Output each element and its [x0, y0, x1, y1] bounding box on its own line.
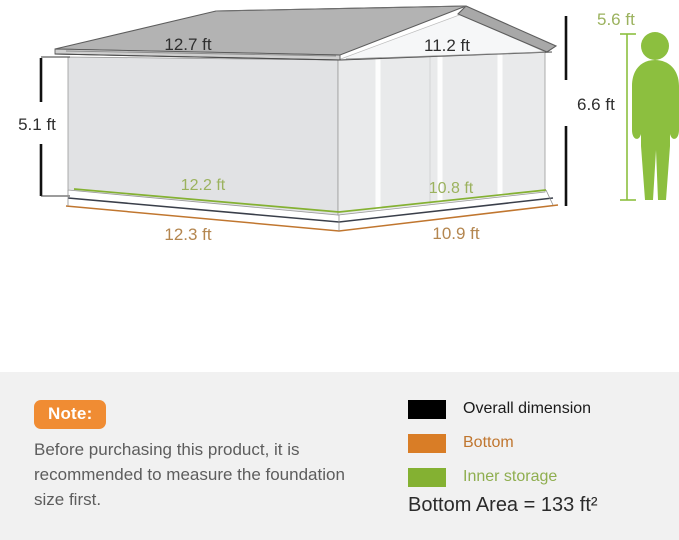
legend-item-overall-dimension: Overall dimension [408, 392, 658, 426]
legend-label-bottom: Bottom [463, 435, 514, 451]
dim-label-inner-left: 12.2 ft [181, 177, 226, 194]
shed-diagram: 12.7 ft 11.2 ft 5.1 ft 6.6 ft 12.2 ft 10… [0, 0, 679, 370]
legend-label-inner-storage: Inner storage [463, 469, 557, 485]
dim-label-roof-right: 11.2 ft [424, 36, 470, 55]
dim-label-right-height: 6.6 ft [577, 95, 615, 114]
legend-item-bottom: Bottom [408, 426, 658, 460]
dim-label-left-height: 5.1 ft [18, 115, 56, 134]
legend: Overall dimension Bottom Inner storage [408, 392, 658, 494]
diagram-panel: 12.7 ft 11.2 ft 5.1 ft 6.6 ft 12.2 ft 10… [0, 0, 679, 370]
info-panel: Note: Before purchasing this product, it… [0, 370, 679, 540]
legend-item-inner-storage: Inner storage [408, 460, 658, 494]
note-badge: Note: [34, 400, 106, 429]
legend-label-overall-dimension: Overall dimension [463, 401, 591, 417]
note-text: Before purchasing this product, it is re… [34, 438, 374, 513]
legend-swatch-inner-storage [408, 468, 446, 487]
dim-label-inner-right: 10.8 ft [429, 180, 474, 197]
dim-label-bottom-left: 12.3 ft [164, 225, 212, 244]
person-scale-figure [632, 32, 679, 200]
bottom-area-summary: Bottom Area = 133 ft² [408, 494, 598, 517]
dim-label-person-height: 5.6 ft [597, 10, 635, 29]
legend-swatch-bottom [408, 434, 446, 453]
dim-label-bottom-right: 10.9 ft [432, 224, 480, 243]
legend-swatch-overall-dimension [408, 400, 446, 419]
dim-label-roof-left: 12.7 ft [164, 35, 212, 54]
product-dimension-infographic: 12.7 ft 11.2 ft 5.1 ft 6.6 ft 12.2 ft 10… [0, 0, 679, 540]
note-block: Note: Before purchasing this product, it… [34, 400, 374, 513]
